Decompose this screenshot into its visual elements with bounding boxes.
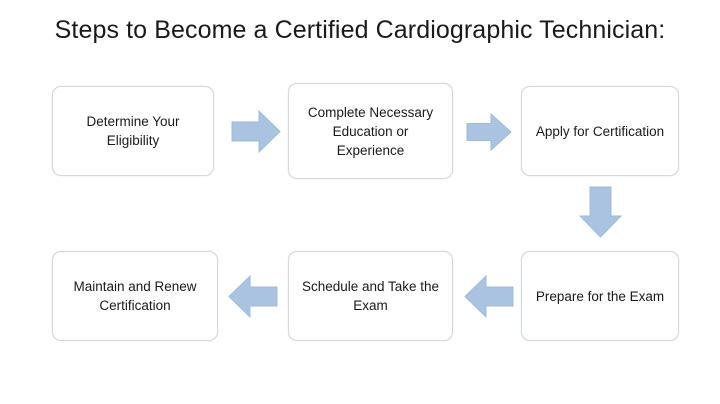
flow-step-maintain-and-renew-certification[interactable]: Maintain and Renew Certification xyxy=(52,251,218,341)
flow-step-label: Schedule and Take the Exam xyxy=(297,277,444,315)
flow-step-label: Determine Your Eligibility xyxy=(61,112,205,150)
arrow-left-icon-prepare-to-schedule xyxy=(464,274,514,319)
arrow-right-icon-eligibility-to-education xyxy=(231,109,281,154)
flow-step-apply-for-certification[interactable]: Apply for Certification xyxy=(521,86,679,176)
flow-step-determine-your-eligibility[interactable]: Determine Your Eligibility xyxy=(52,86,214,176)
slide-canvas: Steps to Become a Certified Cardiographi… xyxy=(0,0,720,404)
arrow-left-icon-schedule-to-maintain xyxy=(228,274,278,319)
flow-step-label: Complete Necessary Education or Experien… xyxy=(297,103,444,160)
flow-step-label: Maintain and Renew Certification xyxy=(61,277,209,315)
page-title: Steps to Become a Certified Cardiographi… xyxy=(0,14,720,46)
flow-step-label: Apply for Certification xyxy=(536,122,664,141)
flow-step-label: Prepare for the Exam xyxy=(536,287,664,306)
flow-step-schedule-and-take-the-exam[interactable]: Schedule and Take the Exam xyxy=(288,251,453,341)
flow-step-complete-necessary-education-or-experience[interactable]: Complete Necessary Education or Experien… xyxy=(288,83,453,179)
flow-step-prepare-for-the-exam[interactable]: Prepare for the Exam xyxy=(521,251,679,341)
arrow-down-icon-apply-to-prepare xyxy=(578,186,623,238)
arrow-right-icon-education-to-apply xyxy=(466,112,512,152)
